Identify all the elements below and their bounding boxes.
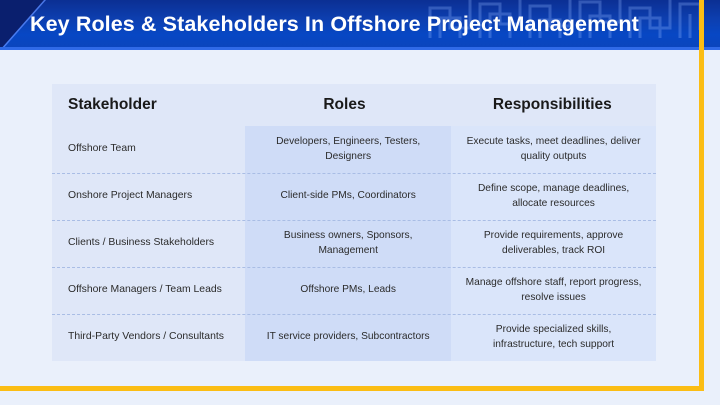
cell-text: Onshore Project Managers: [68, 189, 192, 204]
cell-responsibilities: Execute tasks, meet deadlines, deliver q…: [451, 126, 656, 173]
table-header-row: Stakeholder Roles Responsibilities: [52, 84, 656, 126]
slide-canvas: Key Roles & Stakeholders In Offshore Pro…: [0, 0, 720, 405]
cell-text: Define scope, manage deadlines, allocate…: [465, 182, 642, 211]
cell-roles: Offshore PMs, Leads: [245, 267, 451, 314]
column-header-stakeholder: Stakeholder: [52, 84, 240, 126]
column-header-responsibilities: Responsibilities: [449, 84, 656, 126]
cell-text: Offshore Managers / Team Leads: [68, 283, 222, 298]
cell-responsibilities: Provide requirements, approve deliverabl…: [451, 220, 656, 267]
cell-text: IT service providers, Subcontractors: [267, 330, 430, 344]
cell-text: Business owners, Sponsors, Management: [259, 229, 437, 258]
stakeholders-table: Stakeholder Roles Responsibilities Offsh…: [52, 84, 656, 361]
slide-title: Key Roles & Stakeholders In Offshore Pro…: [30, 0, 639, 48]
table-row: Offshore Managers / Team Leads Offshore …: [52, 267, 656, 314]
cell-responsibilities: Manage offshore staff, report progress, …: [451, 267, 656, 314]
cell-stakeholder: Third-Party Vendors / Consultants: [52, 314, 245, 361]
cell-roles: Client-side PMs, Coordinators: [245, 173, 451, 220]
table-row: Onshore Project Managers Client-side PMs…: [52, 173, 656, 220]
cell-stakeholder: Onshore Project Managers: [52, 173, 245, 220]
accent-rule-right: [699, 0, 704, 391]
cell-text: Third-Party Vendors / Consultants: [68, 330, 224, 345]
cell-roles: Business owners, Sponsors, Management: [245, 220, 451, 267]
slide-header: Key Roles & Stakeholders In Offshore Pro…: [0, 0, 720, 50]
cell-roles: Developers, Engineers, Testers, Designer…: [245, 126, 451, 173]
cell-stakeholder: Offshore Managers / Team Leads: [52, 267, 245, 314]
cell-responsibilities: Provide specialized skills, infrastructu…: [451, 314, 656, 361]
cell-stakeholder: Offshore Team: [52, 126, 245, 173]
cell-text: Offshore PMs, Leads: [300, 283, 396, 297]
cell-roles: IT service providers, Subcontractors: [245, 314, 451, 361]
table-row: Offshore Team Developers, Engineers, Tes…: [52, 126, 656, 173]
accent-rule-bottom: [0, 386, 704, 391]
table-body: Offshore Team Developers, Engineers, Tes…: [52, 126, 656, 361]
table-row: Third-Party Vendors / Consultants IT ser…: [52, 314, 656, 361]
cell-text: Developers, Engineers, Testers, Designer…: [259, 135, 437, 164]
cell-text: Manage offshore staff, report progress, …: [465, 276, 642, 305]
table-row: Clients / Business Stakeholders Business…: [52, 220, 656, 267]
cell-responsibilities: Define scope, manage deadlines, allocate…: [451, 173, 656, 220]
column-header-roles: Roles: [240, 84, 448, 126]
cell-text: Execute tasks, meet deadlines, deliver q…: [465, 135, 642, 164]
cell-stakeholder: Clients / Business Stakeholders: [52, 220, 245, 267]
cell-text: Offshore Team: [68, 142, 136, 157]
cell-text: Provide requirements, approve deliverabl…: [465, 229, 642, 258]
cell-text: Clients / Business Stakeholders: [68, 236, 214, 251]
cell-text: Client-side PMs, Coordinators: [281, 189, 416, 203]
cell-text: Provide specialized skills, infrastructu…: [465, 323, 642, 352]
